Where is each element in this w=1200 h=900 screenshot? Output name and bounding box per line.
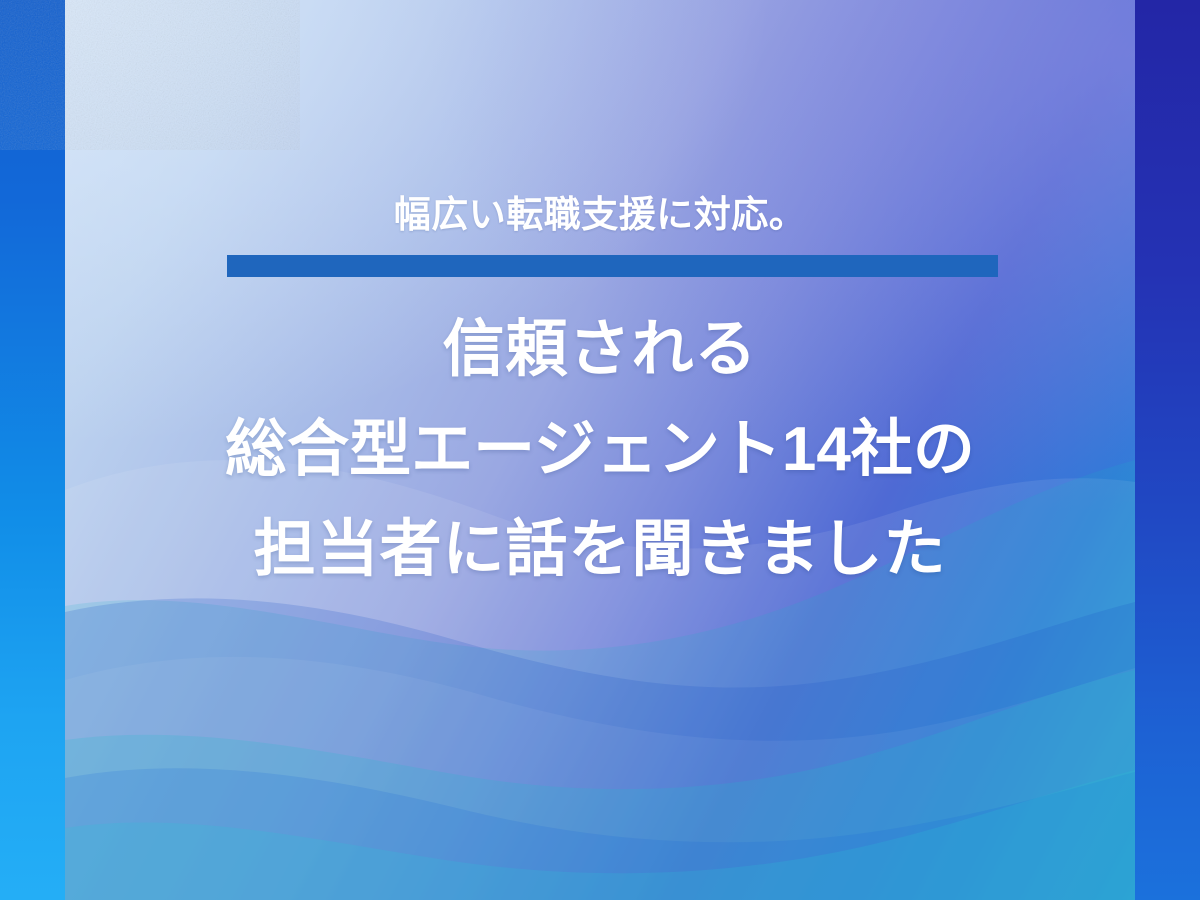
slide-canvas: 幅広い転職支援に対応。 信頼される 総合型エージェント14社の 担当者に話を聞き…: [0, 0, 1200, 900]
left-accent-band: [0, 0, 65, 900]
background-gradient-stage: [65, 0, 1135, 900]
right-accent-band: [1135, 0, 1200, 900]
decorative-wave-layers: [65, 340, 1135, 900]
